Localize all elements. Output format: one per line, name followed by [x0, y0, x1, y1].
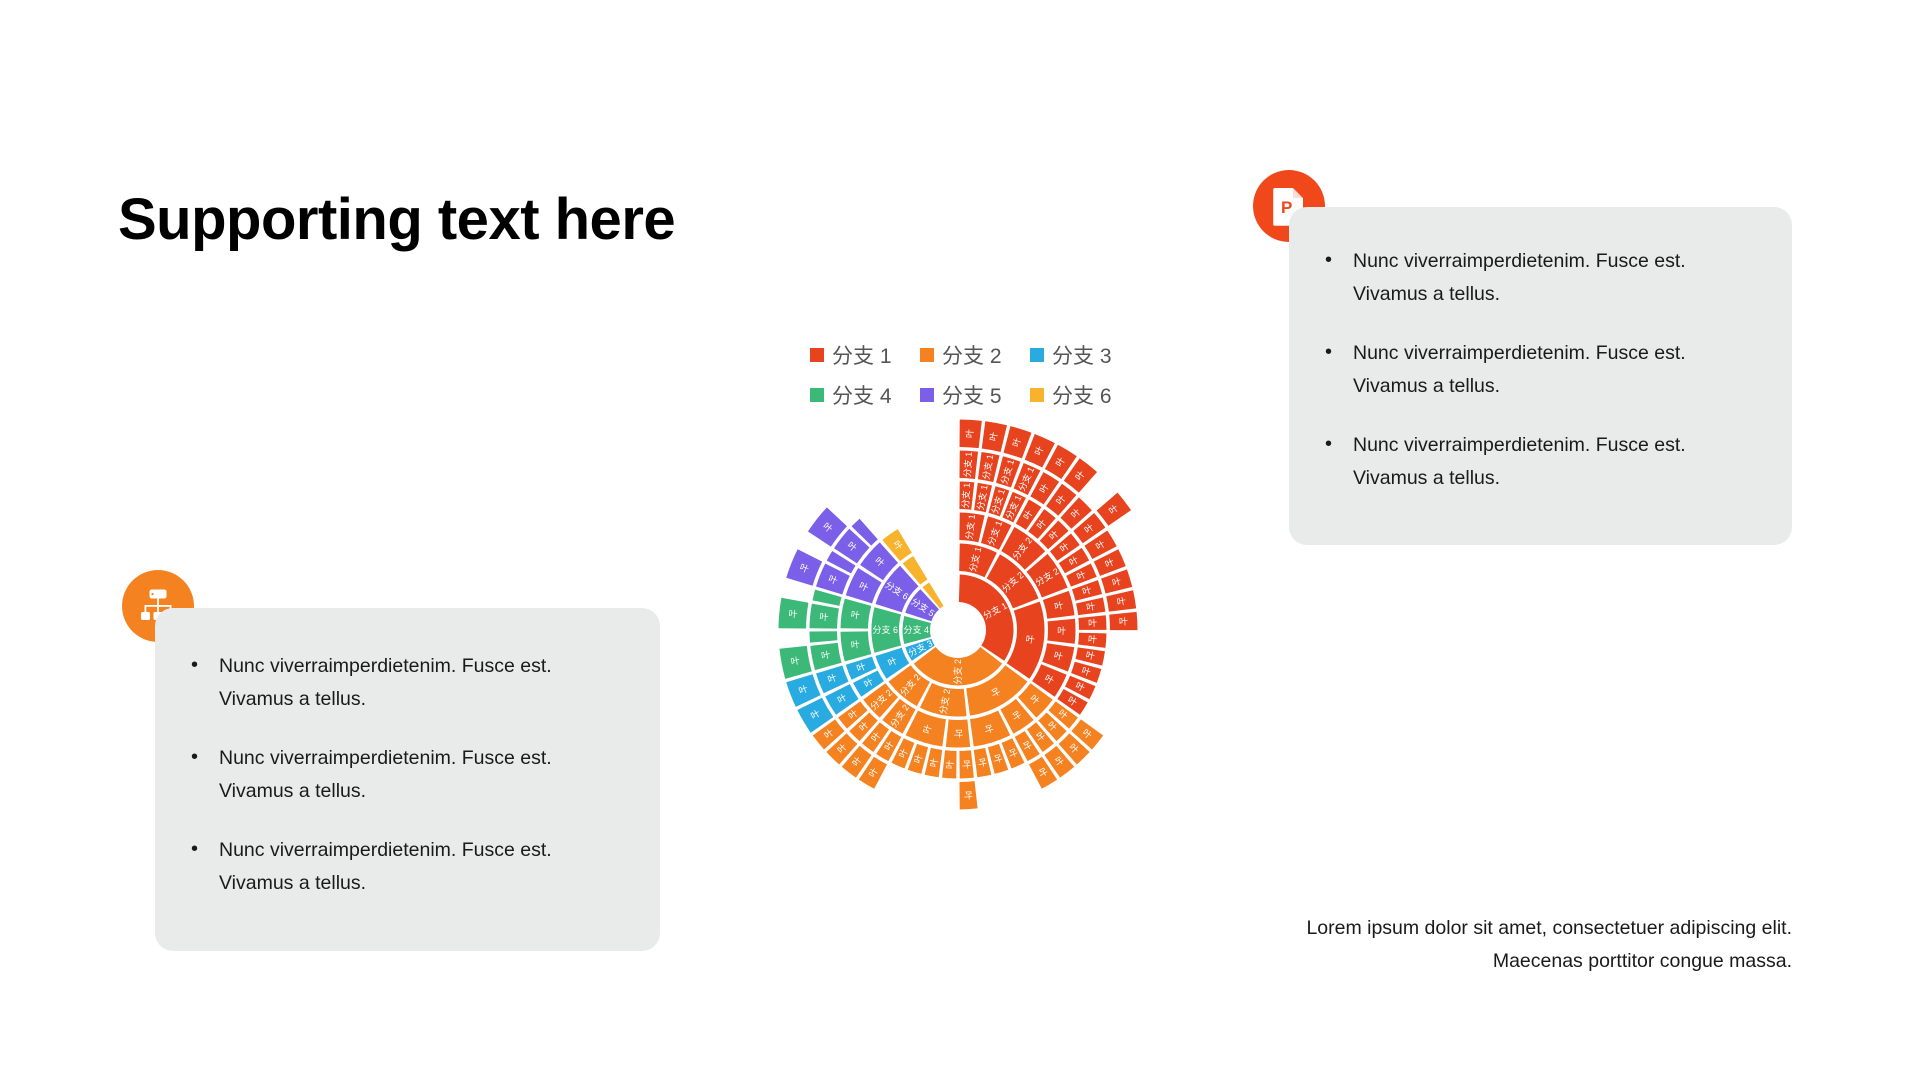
- sunburst-segment-label: 叶: [790, 656, 801, 668]
- sunburst-segment-label: 叶: [1116, 596, 1127, 607]
- legend-item-label: 分支 3: [1052, 340, 1112, 370]
- sunburst-segment[interactable]: [810, 631, 838, 642]
- legend-swatch-icon: [1030, 348, 1044, 362]
- list-item: Nunc viverraimperdietenim. Fusce est. Vi…: [185, 742, 614, 808]
- sunburst-segment-label: 分支 2: [952, 659, 963, 685]
- sunburst-segment-label: 叶: [953, 729, 963, 738]
- list-item: Nunc viverraimperdietenim. Fusce est. Vi…: [1319, 429, 1746, 495]
- sunburst-chart: 分支 1分支 1分支 1分支 1分支 1叶分支 1分支 1叶分支 1分支 1分支…: [735, 400, 1195, 860]
- info-card-right: Nunc viverraimperdietenim. Fusce est. Vi…: [1289, 207, 1792, 545]
- sunburst-segment-label: 叶: [1025, 634, 1035, 645]
- footer-line-2: Maecenas porttitor congue massa.: [1272, 945, 1792, 978]
- legend-item-label: 分支 1: [832, 340, 892, 370]
- list-item: Nunc viverraimperdietenim. Fusce est. Vi…: [185, 834, 614, 900]
- legend-item[interactable]: 分支 2: [920, 335, 1030, 375]
- legend-item[interactable]: 分支 1: [810, 335, 920, 375]
- sunburst-segment-label: 叶: [1088, 634, 1098, 645]
- sunburst-segment-label: 叶: [961, 760, 972, 770]
- bullet-list-right: Nunc viverraimperdietenim. Fusce est. Vi…: [1319, 245, 1746, 495]
- sunburst-segment-label: 分支 1: [961, 451, 974, 477]
- sunburst-segment-label: 叶: [1088, 618, 1098, 628]
- sunburst-segment-label: 叶: [928, 757, 939, 768]
- footer-line-1: Lorem ipsum dolor sit amet, consectetuer…: [1272, 912, 1792, 945]
- sunburst-segment-label: 叶: [945, 760, 956, 770]
- legend-swatch-icon: [920, 348, 934, 362]
- bullet-list-left: Nunc viverraimperdietenim. Fusce est. Vi…: [185, 650, 614, 900]
- info-card-left: Nunc viverraimperdietenim. Fusce est. Vi…: [155, 608, 660, 951]
- sunburst-segment-label: 叶: [850, 610, 860, 621]
- sunburst-segment-label: 叶: [1085, 650, 1096, 662]
- sunburst-segment-label: 分支 1: [959, 482, 972, 508]
- sunburst-segment-label: 叶: [965, 429, 976, 439]
- sunburst-segment-label: 叶: [963, 791, 974, 801]
- legend-item-label: 分支 2: [942, 340, 1002, 370]
- sunburst-segment-label: 叶: [1057, 626, 1066, 636]
- sunburst-segment-label: 叶: [788, 609, 798, 620]
- sunburst-segment-label: 叶: [976, 757, 987, 768]
- sunburst-segment-label: 分支 1: [974, 484, 989, 511]
- sunburst-segment-label: 叶: [819, 612, 829, 623]
- page-title: Supporting text here: [118, 186, 675, 253]
- sunburst-segment-label: 分支 6: [872, 624, 898, 635]
- sunburst-segment-label: 叶: [1085, 601, 1096, 612]
- sunburst-segment-label: 叶: [820, 650, 831, 662]
- legend-swatch-icon: [810, 348, 824, 362]
- list-item: Nunc viverraimperdietenim. Fusce est. Vi…: [1319, 337, 1746, 403]
- sunburst-segment-label: 叶: [988, 431, 999, 442]
- list-item: Nunc viverraimperdietenim. Fusce est. Vi…: [1319, 245, 1746, 311]
- sunburst-segment-label: 叶: [850, 639, 860, 650]
- list-item: Nunc viverraimperdietenim. Fusce est. Vi…: [185, 650, 614, 716]
- legend-item[interactable]: 分支 3: [1030, 335, 1140, 375]
- sunburst-segment-label: 叶: [1119, 616, 1129, 626]
- presentation-file-icon-letter: P: [1281, 198, 1292, 217]
- footer-caption: Lorem ipsum dolor sit amet, consectetuer…: [1272, 912, 1792, 978]
- sunburst-segment-label: 分支 4: [903, 624, 929, 635]
